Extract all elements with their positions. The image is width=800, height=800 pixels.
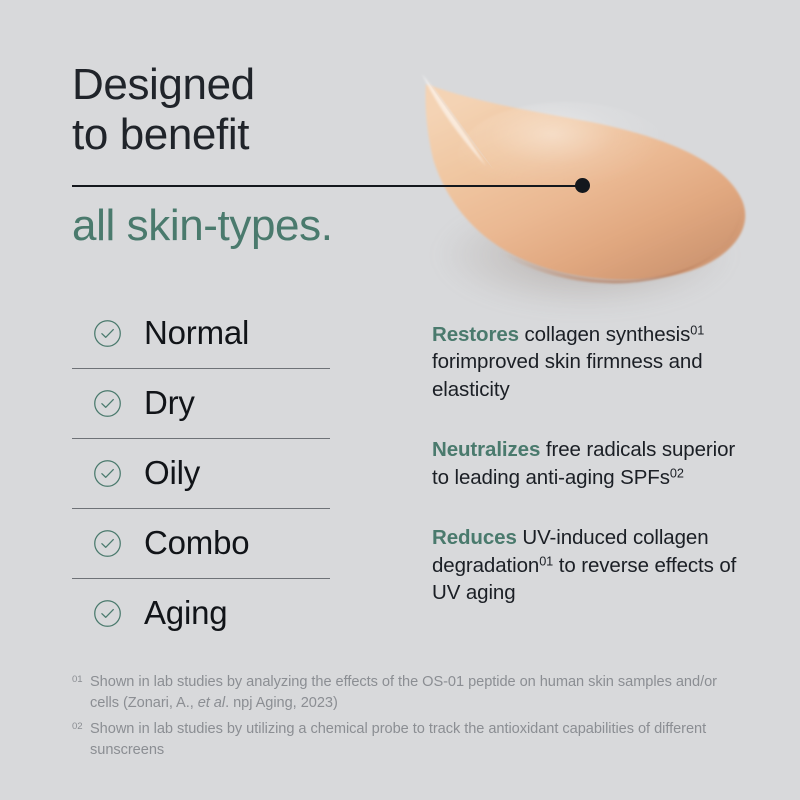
benefit-lead-word: Reduces (432, 526, 517, 549)
benefit-footnote-ref: 02 (670, 465, 684, 480)
list-item-label: Aging (144, 595, 227, 631)
list-item-label: Oily (144, 455, 200, 491)
list-item-label: Normal (144, 315, 249, 351)
circle-check-icon (93, 389, 122, 418)
list-item: Combo (72, 508, 330, 578)
subheadline: all skin-types. (72, 200, 333, 252)
skin-types-list: Normal Dry Oily Combo Aging (72, 298, 330, 648)
headline-line-2: to benefit (72, 110, 452, 160)
circle-check-icon (93, 599, 122, 628)
list-item: Dry (72, 368, 330, 438)
list-item: Normal (72, 298, 330, 368)
pointer-line-dot (72, 184, 587, 187)
footnote-text-a: Shown in lab studies by utilizing a chem… (90, 721, 706, 758)
benefit-lead-word: Restores (432, 323, 519, 346)
benefits-list: Restores collagen synthesis01 forimprove… (432, 300, 752, 607)
list-item-label: Combo (144, 525, 249, 561)
cream-swatch-icon (406, 52, 756, 287)
benefit-item: Neutralizes free radicals superior to le… (432, 436, 752, 491)
cream-swatch-graphic (400, 40, 780, 300)
benefit-text-b: forimproved skin firmness and elasticity (432, 350, 703, 401)
pointer-line (72, 185, 583, 187)
swatch-rim (446, 202, 742, 283)
swatch-highlight (458, 102, 674, 210)
footnote-marker: 01 (72, 673, 83, 687)
benefit-text-a: collagen synthesis (519, 323, 690, 346)
footnote-text-a: Shown in lab studies by analyzing the ef… (90, 674, 717, 711)
list-item: Oily (72, 438, 330, 508)
footnote: 01Shown in lab studies by analyzing the … (72, 672, 740, 714)
benefit-footnote-ref: 01 (539, 553, 553, 568)
circle-check-icon (93, 319, 122, 348)
list-item-label: Dry (144, 385, 195, 421)
headline-line-1: Designed (72, 60, 452, 110)
footnotes-block: 01Shown in lab studies by analyzing the … (72, 672, 740, 766)
benefit-lead-word: Neutralizes (432, 438, 540, 461)
headline-block: Designed to benefit (72, 60, 452, 160)
footnote-marker: 02 (72, 720, 83, 734)
list-item: Aging (72, 578, 330, 648)
benefit-footnote-ref: 01 (690, 322, 704, 337)
circle-check-icon (93, 459, 122, 488)
pointer-dot-icon (575, 178, 590, 193)
swatch-shadow (440, 200, 730, 310)
footnote-italic: et al (198, 695, 225, 711)
benefit-item: Restores collagen synthesis01 forimprove… (432, 321, 752, 404)
circle-check-icon (93, 529, 122, 558)
benefit-item: Reduces UV-induced collagen degradation0… (432, 524, 752, 607)
footnote-text-b: . npj Aging, 2023) (225, 695, 338, 711)
footnote: 02Shown in lab studies by utilizing a ch… (72, 719, 740, 761)
